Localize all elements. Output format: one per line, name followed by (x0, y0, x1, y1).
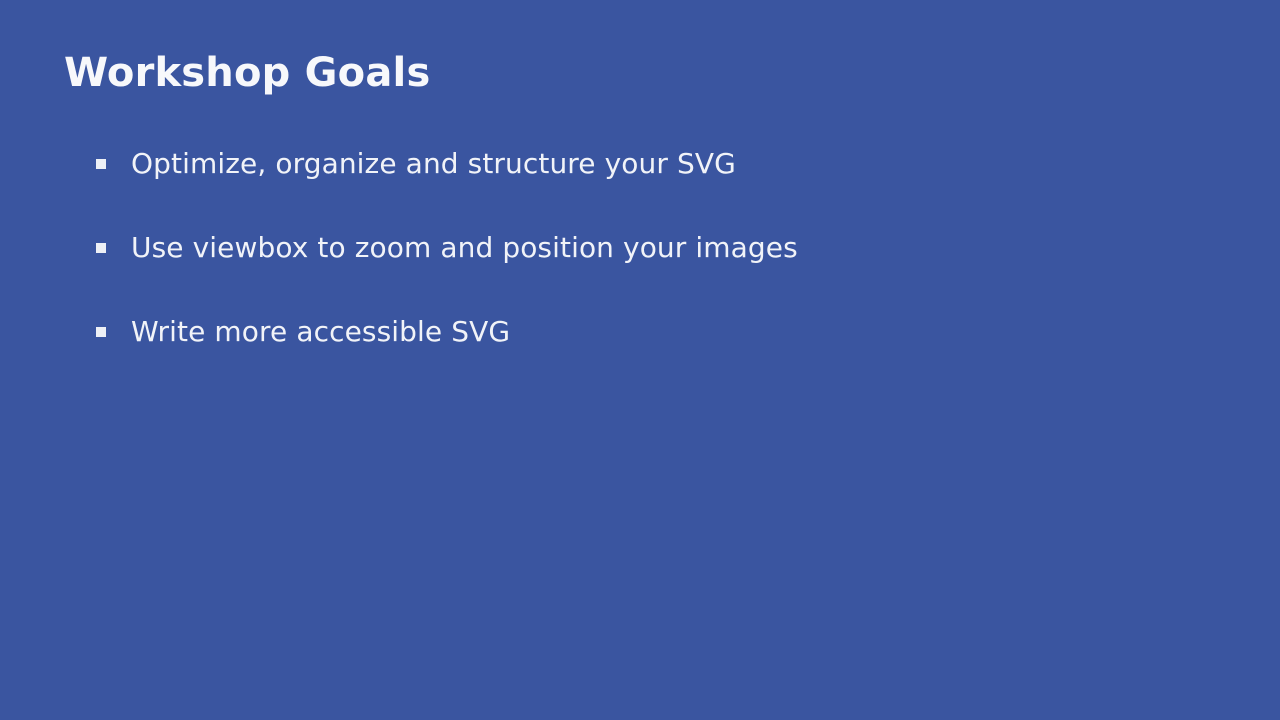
list-item-label: Use viewbox to zoom and position your im… (131, 230, 1196, 266)
square-bullet-icon (96, 243, 106, 253)
list-item: Use viewbox to zoom and position your im… (96, 230, 1196, 314)
square-bullet-icon (96, 159, 106, 169)
goals-bullet-list: Optimize, organize and structure your SV… (96, 146, 1196, 398)
list-item: Optimize, organize and structure your SV… (96, 146, 1196, 230)
list-item-label: Write more accessible SVG (131, 314, 1196, 350)
list-item-label: Optimize, organize and structure your SV… (131, 146, 1196, 182)
slide-title: Workshop Goals (64, 45, 430, 101)
list-item: Write more accessible SVG (96, 314, 1196, 398)
square-bullet-icon (96, 327, 106, 337)
presentation-slide: Workshop Goals Optimize, organize and st… (0, 0, 1280, 720)
